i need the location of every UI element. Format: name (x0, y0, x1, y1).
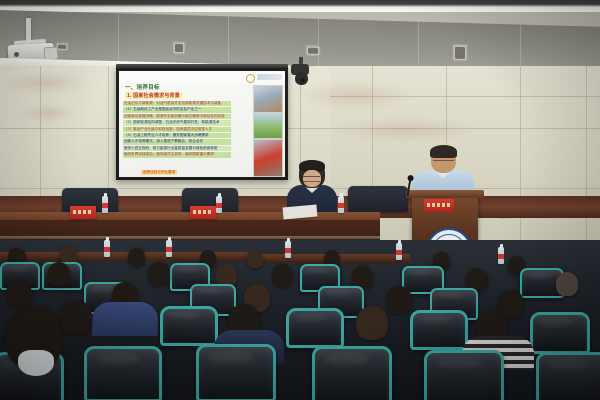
slide-line: 面向世界科技前沿，面向经济主战场，面向国家重大需求 (123, 152, 231, 157)
lecture-hall-photo: 一、培养目标 1. 国家社会需求与背景 石油石化与新能源，对油气勘探开发及新能源… (0, 0, 600, 400)
auditorium-seat[interactable] (160, 306, 218, 346)
green-field-photo (253, 113, 283, 139)
auditorium-seat[interactable] (536, 352, 600, 400)
water-bottle[interactable] (166, 240, 172, 257)
slide-wordmark (257, 74, 282, 80)
auditorium-seat[interactable] (312, 346, 392, 400)
auditorium-seat[interactable] (410, 310, 468, 350)
slide-line: （2）国家能源结构调整，石油天然气勘探开发、新能源技术 (123, 120, 231, 125)
water-bottle[interactable] (498, 247, 504, 264)
water-bottle[interactable] (102, 196, 108, 213)
slide-line: 石油石化与新能源，对油气勘探开发及新能源关键技术与装备 (123, 101, 231, 106)
slide-title: 一、培养目标 (125, 83, 160, 91)
water-bottle[interactable] (104, 240, 110, 257)
name-placard-left (70, 206, 96, 219)
slide-subtitle: 1. 国家社会需求与背景 (125, 92, 182, 99)
slide-line: 服务十四五规划，助力能源行业高质量发展与绿色低碳转型 (123, 146, 231, 151)
stage-chair[interactable] (348, 186, 408, 212)
audience-head (247, 250, 263, 268)
slide-line: 创新人才培养模式，深入推进产教融合、校企合作 (123, 139, 231, 144)
audience-head (6, 280, 32, 308)
water-bottle[interactable] (338, 196, 344, 213)
auditorium-seat[interactable] (84, 346, 162, 400)
slide-line: （1）石油和化工产业是国民经济的支柱产业之一 (123, 107, 231, 112)
audience-head (556, 272, 578, 296)
auditorium-seat[interactable] (286, 308, 344, 348)
head-table-molding (0, 236, 380, 239)
presentation-slide: 一、培养目标 1. 国家社会需求与背景 石油石化与新能源，对油气勘探开发及新能源… (119, 71, 285, 177)
ceiling-light-strip (0, 0, 600, 12)
auditorium-seat[interactable] (530, 312, 590, 354)
audience-head (272, 264, 293, 287)
auditorium-seat[interactable] (424, 350, 504, 400)
slide-footer: 培养目标与毕业要求 (141, 170, 177, 175)
slide-line: （4）石油工程专业人才培养，服务国家重大战略需求 (123, 133, 231, 138)
name-placard-podium (424, 199, 454, 212)
audience-shoulders (92, 302, 158, 336)
water-bottle[interactable] (396, 243, 402, 260)
auditorium-seat[interactable] (196, 344, 276, 400)
audience-head (128, 248, 145, 267)
audience-head (386, 286, 412, 314)
slide-line: （3）推动产业升级与科技创新，培养高层次应用型人才 (123, 127, 231, 132)
water-bottle[interactable] (216, 196, 222, 213)
audience-head (60, 300, 92, 334)
podium-top (406, 190, 484, 198)
audience-head (148, 262, 170, 286)
audience-head (48, 262, 70, 286)
gold-ring-logo-icon (246, 74, 255, 83)
red-drilling-rig-photo (253, 139, 283, 177)
audience-head (356, 306, 388, 340)
name-placard-right (190, 206, 216, 219)
slide-line: 创新驱动发展战略、能源安全新战略与碳达峰碳中和目标的实现 (123, 114, 231, 119)
campus-building-photo (253, 85, 283, 113)
slide-body: 石油石化与新能源，对油气勘探开发及新能源关键技术与装备 （1）石油和化工产业是国… (123, 101, 231, 159)
water-bottle[interactable] (285, 241, 291, 258)
